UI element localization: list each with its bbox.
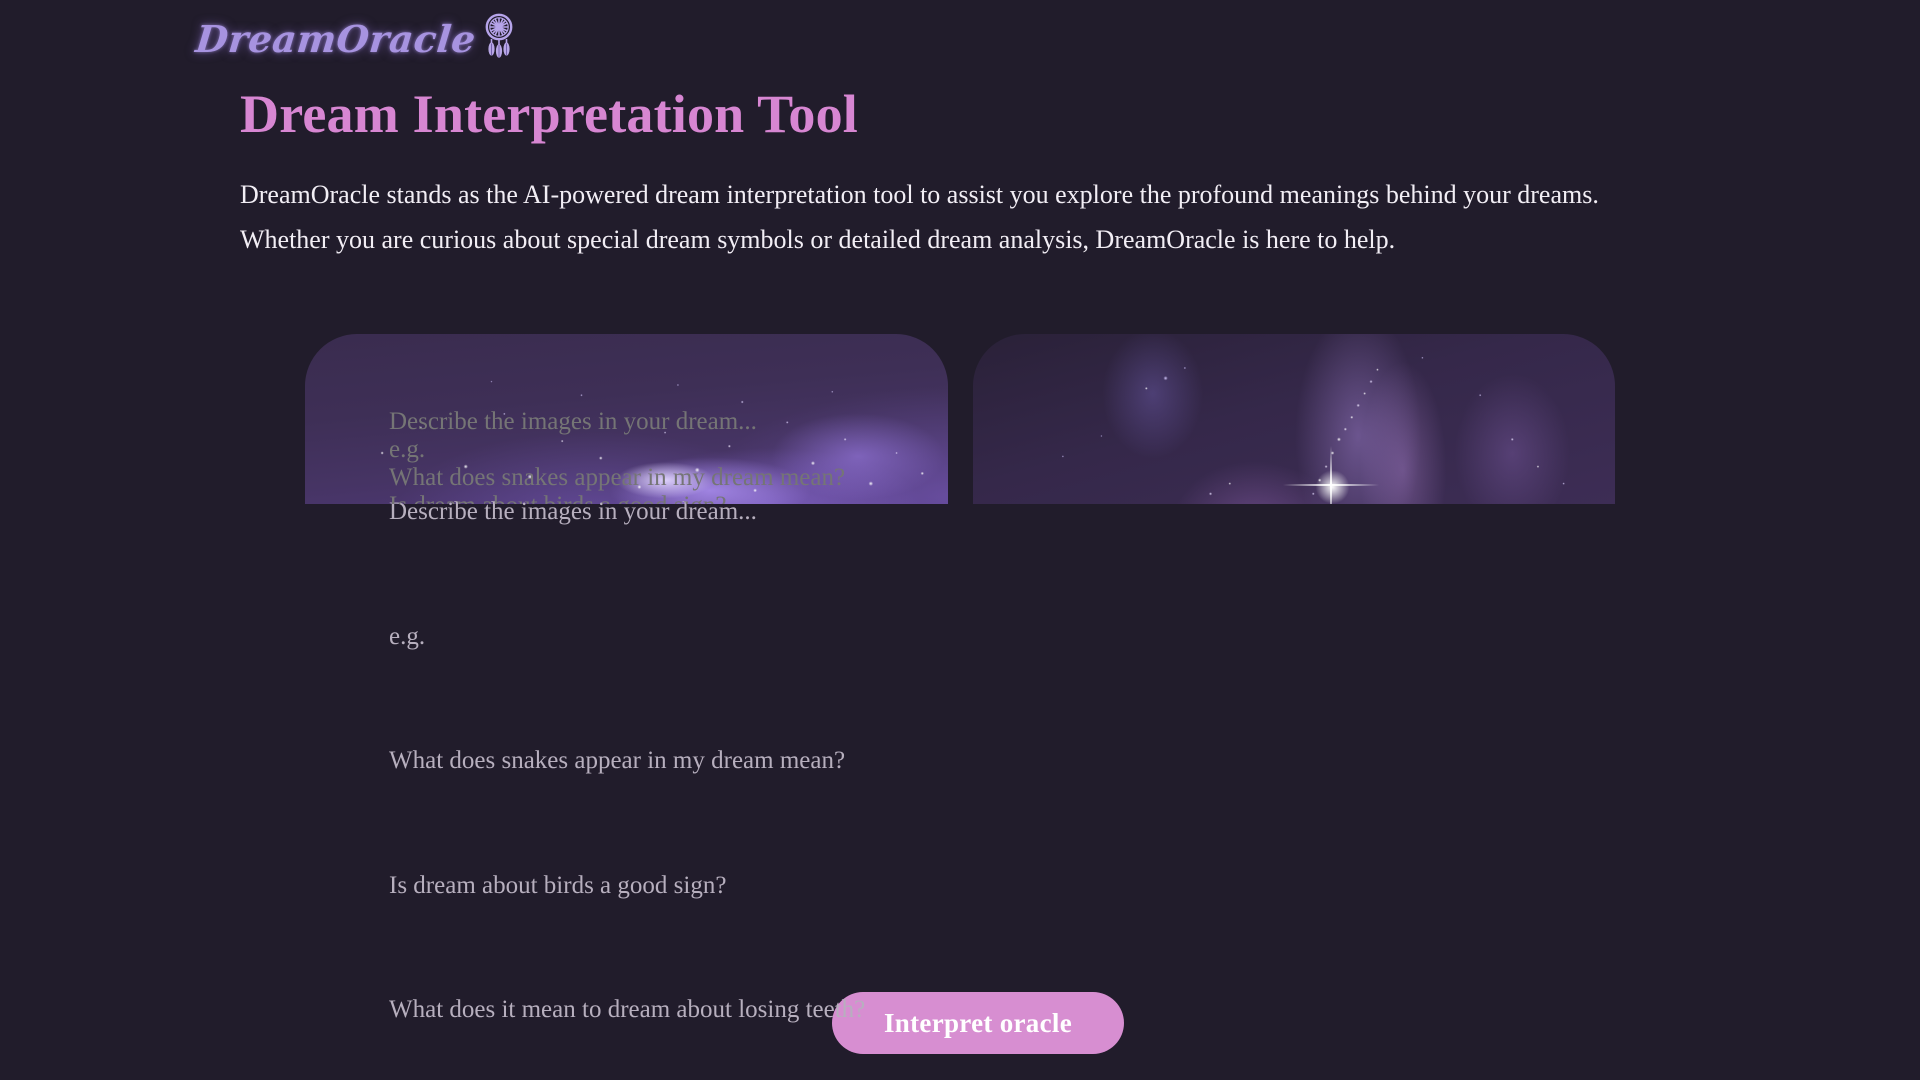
logo-text: DreamOracle bbox=[194, 21, 477, 58]
galaxy-texture-right bbox=[973, 334, 1615, 504]
app-logo[interactable]: DreamOracle bbox=[196, 10, 516, 68]
intro-line-1: DreamOracle stands as the AI-powered dre… bbox=[240, 172, 1670, 217]
bright-star-icon bbox=[1330, 484, 1332, 486]
dream-input-panel[interactable] bbox=[305, 334, 948, 504]
dreamcatcher-icon bbox=[482, 12, 516, 67]
intro-description: DreamOracle stands as the AI-powered dre… bbox=[240, 172, 1670, 262]
placeholder-line: Is dream about birds a good sign? bbox=[389, 865, 989, 907]
dream-output-panel bbox=[973, 334, 1615, 504]
placeholder-line: What does snakes appear in my dream mean… bbox=[389, 740, 989, 782]
placeholder-line: e.g. bbox=[389, 616, 989, 658]
page-title: Dream Interpretation Tool bbox=[240, 84, 858, 144]
panels-row bbox=[305, 334, 1615, 504]
output-panel-background bbox=[973, 334, 1615, 504]
intro-line-2: Whether you are curious about special dr… bbox=[240, 217, 1670, 262]
submit-row: Interpret oracle bbox=[0, 992, 1920, 1054]
dream-description-input[interactable] bbox=[305, 334, 948, 504]
interpret-oracle-button[interactable]: Interpret oracle bbox=[832, 992, 1124, 1054]
dream-input-placeholder-text: Describe the images in your dream... e.g… bbox=[389, 408, 989, 1080]
